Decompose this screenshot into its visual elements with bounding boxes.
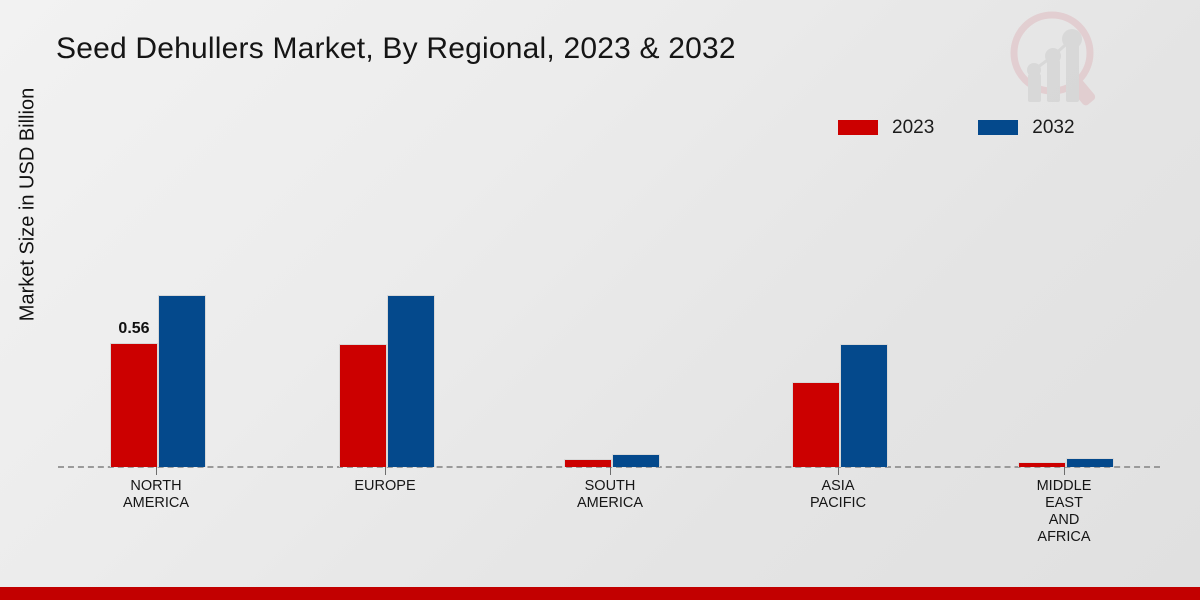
category-label-line: ASIA: [748, 478, 928, 495]
footer-accent-bar: [0, 587, 1200, 600]
bar-group-asia-pacific: [792, 344, 888, 467]
axis-tick-europe: [385, 467, 386, 475]
bar-2032-asia-pacific[interactable]: [840, 344, 888, 467]
category-label-line: SOUTH: [520, 478, 700, 495]
chart-page: Seed Dehullers Market, By Regional, 2023…: [0, 0, 1200, 600]
category-label-line: AND: [974, 512, 1154, 529]
bar-2032-north-america[interactable]: [158, 295, 206, 467]
category-label-south-america: SOUTH AMERICA: [520, 478, 700, 512]
category-label-middle-east-and-africa: MIDDLE EAST AND AFRICA: [974, 478, 1154, 546]
category-label-line: PACIFIC: [748, 495, 928, 512]
category-label-line: EAST: [974, 495, 1154, 512]
bar-2023-asia-pacific[interactable]: [792, 382, 840, 467]
category-label-line: AMERICA: [66, 495, 246, 512]
plot-area: 0.56 NORTH AMERICA EUROPE SOUTH AMERICA: [0, 0, 1200, 600]
axis-tick-north-america: [156, 467, 157, 475]
category-label-line: AFRICA: [974, 529, 1154, 546]
bar-group-europe: [339, 295, 435, 467]
category-label-line: MIDDLE: [974, 478, 1154, 495]
bar-group-middle-east-and-africa: [1018, 458, 1114, 467]
bar-2032-middle-east-and-africa[interactable]: [1066, 458, 1114, 467]
axis-tick-asia-pacific: [838, 467, 839, 475]
bar-2023-north-america[interactable]: 0.56: [110, 343, 158, 467]
category-label-asia-pacific: ASIA PACIFIC: [748, 478, 928, 512]
category-label-europe: EUROPE: [295, 478, 475, 495]
category-label-line: EUROPE: [295, 478, 475, 495]
axis-tick-middle-east-and-africa: [1064, 467, 1065, 475]
category-label-north-america: NORTH AMERICA: [66, 478, 246, 512]
category-label-line: NORTH: [66, 478, 246, 495]
bar-group-north-america: 0.56: [110, 295, 206, 467]
category-label-line: AMERICA: [520, 495, 700, 512]
bar-2032-europe[interactable]: [387, 295, 435, 467]
bar-group-south-america: [564, 454, 660, 467]
bar-value-label-north-america-2023: 0.56: [118, 320, 149, 338]
axis-tick-south-america: [610, 467, 611, 475]
bar-2023-south-america[interactable]: [564, 459, 612, 467]
bar-2023-europe[interactable]: [339, 344, 387, 467]
bar-2032-south-america[interactable]: [612, 454, 660, 467]
bar-2023-middle-east-and-africa[interactable]: [1018, 462, 1066, 467]
